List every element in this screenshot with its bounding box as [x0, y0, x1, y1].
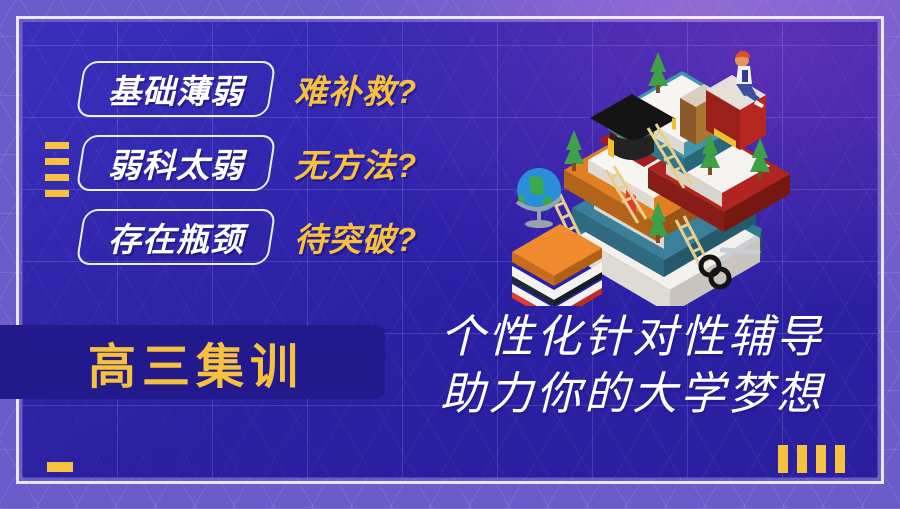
dash-mark: [45, 174, 69, 181]
corner-bar: [797, 445, 807, 473]
isometric-book-stack-illustration: [498, 38, 838, 306]
slogan-line-1: 个性化针对性辅导: [440, 308, 824, 365]
problem-row: 弱科太弱 无方法?: [80, 132, 417, 194]
problem-tag-box: 弱科太弱: [76, 135, 277, 191]
problem-tag-label: 存在瓶颈: [108, 213, 244, 261]
problem-question-label: 难补救?: [294, 65, 417, 113]
dash-mark: [45, 190, 69, 197]
slogan-block: 个性化针对性辅导 助力你的大学梦想: [440, 308, 824, 422]
corner-bar: [835, 445, 845, 473]
poster-canvas: 基础薄弱 难补救? 弱科太弱 无方法? 存在瓶颈 待突破? 高三集训 个性化针对…: [0, 0, 900, 509]
corner-bar: [816, 445, 826, 473]
problem-row: 基础薄弱 难补救?: [80, 58, 417, 120]
corner-dash-decoration: [47, 462, 73, 472]
dash-mark: [45, 158, 69, 165]
problem-row: 存在瓶颈 待突破?: [80, 206, 417, 268]
slogan-line-2: 助力你的大学梦想: [440, 365, 824, 422]
problem-row-list: 基础薄弱 难补救? 弱科太弱 无方法? 存在瓶颈 待突破?: [80, 58, 417, 280]
problem-tag-label: 弱科太弱: [108, 139, 244, 187]
corner-bar: [778, 445, 788, 473]
headline-plate: 高三集训: [0, 325, 385, 399]
page-title: 高三集训: [88, 327, 304, 397]
problem-tag-box: 基础薄弱: [76, 61, 277, 117]
problem-tag-label: 基础薄弱: [108, 65, 244, 113]
problem-question-label: 待突破?: [294, 213, 417, 261]
problem-question-label: 无方法?: [294, 139, 417, 187]
globe-icon: [517, 168, 561, 228]
corner-bars-decoration: [778, 445, 845, 473]
problem-tag-box: 存在瓶颈: [76, 209, 277, 265]
dash-marks-decoration: [45, 142, 69, 206]
dash-mark: [45, 142, 69, 149]
